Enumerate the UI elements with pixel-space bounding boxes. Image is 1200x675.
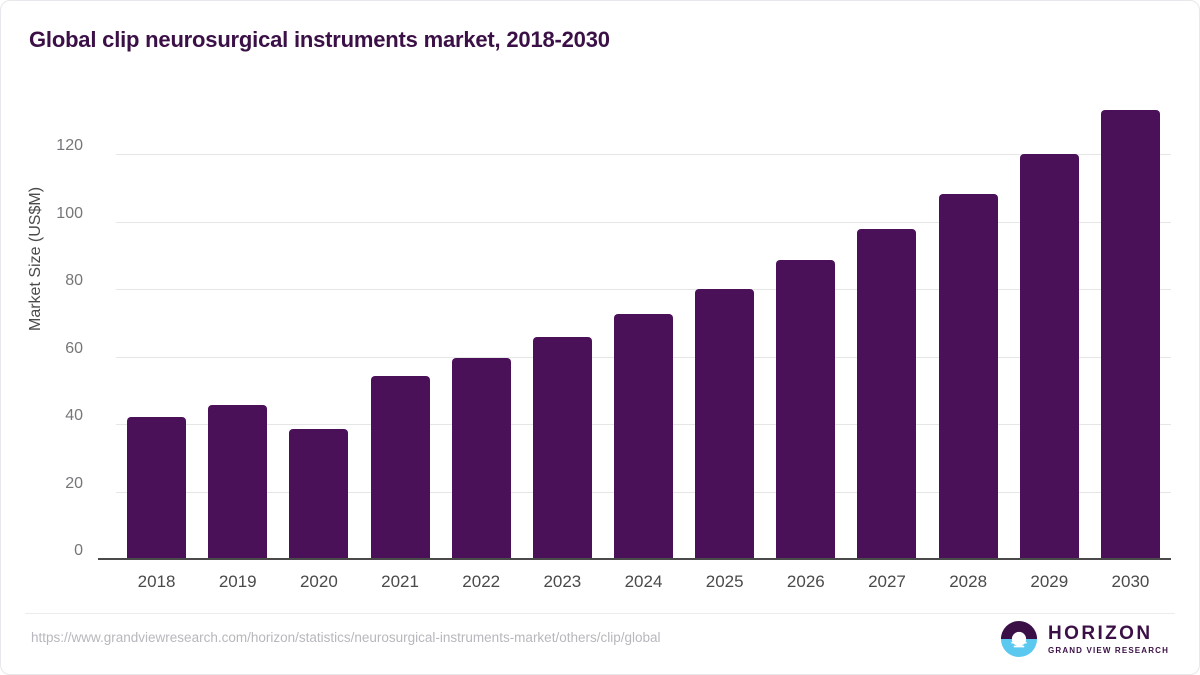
x-tick-label: 2019 (197, 572, 278, 592)
bar[interactable] (857, 229, 916, 560)
bar[interactable] (208, 405, 267, 560)
logo-subtitle: GRAND VIEW RESEARCH (1048, 647, 1169, 655)
bar-group: 2029 (1009, 101, 1090, 560)
bar[interactable] (1020, 154, 1079, 560)
bar-group: 2025 (684, 101, 765, 560)
chart-page: Global clip neurosurgical instruments ma… (0, 0, 1200, 675)
bar-group: 2027 (846, 101, 927, 560)
bar[interactable] (533, 337, 592, 560)
bar[interactable] (371, 376, 430, 560)
y-tick-label: 20 (13, 475, 83, 493)
bar-group: 2028 (928, 101, 1009, 560)
y-tick-label: 60 (13, 340, 83, 358)
plot-area: 020406080100120 201820192020202120222023… (116, 101, 1171, 560)
logo-wordmark: HORIZON (1048, 624, 1169, 643)
x-tick-label: 2026 (765, 572, 846, 592)
x-tick-label: 2029 (1009, 572, 1090, 592)
bar-group: 2019 (197, 101, 278, 560)
bar-group: 2023 (522, 101, 603, 560)
x-tick-label: 2030 (1090, 572, 1171, 592)
x-tick-label: 2021 (359, 572, 440, 592)
x-tick-label: 2018 (116, 572, 197, 592)
bar[interactable] (452, 358, 511, 560)
x-tick-label: 2025 (684, 572, 765, 592)
y-tick-label: 100 (13, 205, 83, 223)
x-axis-line (98, 558, 1171, 560)
bar[interactable] (127, 417, 186, 560)
y-tick-label: 120 (13, 137, 83, 155)
logo-text: HORIZON GRAND VIEW RESEARCH (1048, 624, 1169, 655)
x-tick-label: 2022 (441, 572, 522, 592)
bar-group: 2018 (116, 101, 197, 560)
x-tick-label: 2028 (928, 572, 1009, 592)
bar-group: 2026 (765, 101, 846, 560)
bar-group: 2030 (1090, 101, 1171, 560)
page-title: Global clip neurosurgical instruments ma… (29, 27, 610, 53)
y-tick-label: 40 (13, 407, 83, 425)
bar[interactable] (614, 314, 673, 560)
source-url[interactable]: https://www.grandviewresearch.com/horizo… (31, 630, 661, 645)
bar-group: 2022 (441, 101, 522, 560)
x-tick-label: 2020 (278, 572, 359, 592)
bar-series: 2018201920202021202220232024202520262027… (116, 101, 1171, 560)
y-tick-label: 0 (13, 542, 83, 560)
bar-group: 2024 (603, 101, 684, 560)
bar[interactable] (1101, 110, 1160, 560)
horizon-logo: HORIZON GRAND VIEW RESEARCH (1000, 619, 1169, 659)
bar[interactable] (289, 429, 348, 560)
x-tick-label: 2027 (846, 572, 927, 592)
y-axis-title: Market Size (US$M) (27, 187, 45, 331)
bar-group: 2020 (278, 101, 359, 560)
bar[interactable] (939, 194, 998, 560)
x-tick-label: 2024 (603, 572, 684, 592)
horizon-logo-icon (1000, 620, 1038, 658)
bar[interactable] (695, 289, 754, 560)
x-tick-label: 2023 (522, 572, 603, 592)
bar-group: 2021 (359, 101, 440, 560)
y-tick-label: 80 (13, 272, 83, 290)
bar[interactable] (776, 260, 835, 560)
footer-divider (25, 613, 1175, 614)
